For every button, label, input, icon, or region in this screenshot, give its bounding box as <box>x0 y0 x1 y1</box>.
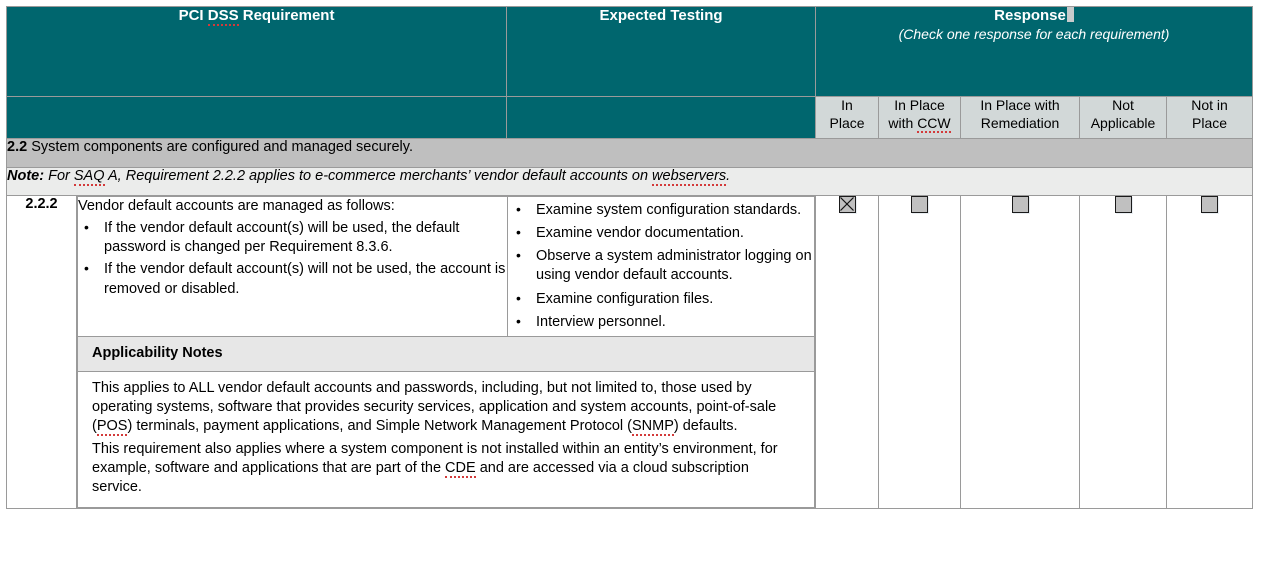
bullet-icon: • <box>516 246 521 264</box>
note-text: For SAQ A, Requirement 2.2.2 applies to … <box>48 168 730 186</box>
requirement-content-grid: Vendor default accounts are managed as f… <box>77 196 815 508</box>
response-cell-in-place-with-ccw[interactable] <box>879 196 961 509</box>
applicability-paragraph: This applies to ALL vendor default accou… <box>92 379 796 437</box>
testing-bullet-item: • Examine vendor documentation. <box>508 224 814 243</box>
expected-testing-cell: • Examine system configuration standards… <box>508 197 815 337</box>
bullet-icon: • <box>516 312 521 330</box>
testing-bullet-item: • Observe a system administrator logging… <box>508 247 814 285</box>
checkbox-empty-icon[interactable] <box>1115 196 1132 213</box>
applicability-paragraph: This requirement also applies where a sy… <box>92 440 796 498</box>
header-pci-dss-requirement: PCI DSS Requirement <box>7 7 507 97</box>
testing-bullet-item: • Examine system configuration standards… <box>508 201 814 220</box>
requirement-bullet-text: If the vendor default account(s) will no… <box>104 261 505 296</box>
table-subheader-row: In Place In Place with CCW In Place with… <box>7 97 1253 139</box>
bullet-icon: • <box>84 259 89 277</box>
response-title: Response <box>994 7 1066 26</box>
subheader-remediation-line2: Remediation <box>961 115 1079 133</box>
applicability-notes-body: This applies to ALL vendor default accou… <box>78 372 814 508</box>
checkbox-empty-icon[interactable] <box>1012 196 1029 213</box>
testing-bullet-text: Examine system configuration standards. <box>536 202 801 218</box>
bullet-icon: • <box>516 289 521 307</box>
requirement-number-cell: 2.2.2 <box>7 196 77 509</box>
requirement-row: 2.2.2 Vendor default accounts are manage… <box>7 196 1253 509</box>
subheader-in-place-line2: Place <box>816 115 878 133</box>
text-cursor-caret <box>1067 7 1074 22</box>
applicability-notes-block: Applicability Notes This applies to ALL … <box>78 336 815 508</box>
requirement-content-cell: Vendor default accounts are managed as f… <box>77 196 816 509</box>
subheader-spacer-requirement <box>7 97 507 139</box>
requirement-text-cell: Vendor default accounts are managed as f… <box>78 197 508 337</box>
subheader-remediation-line1: In Place with <box>961 97 1079 115</box>
applicability-notes-title: Applicability Notes <box>78 337 814 372</box>
testing-bullet-text: Interview personnel. <box>536 314 666 330</box>
requirement-bullet-list: • If the vendor default account(s) will … <box>78 219 507 299</box>
table-header-row: PCI DSS Requirement Expected Testing Res… <box>7 7 1253 97</box>
header-expected-testing: Expected Testing <box>507 7 816 97</box>
subheader-ccw-line1: In Place <box>879 97 960 115</box>
subheader-not-applicable: Not Applicable <box>1080 97 1167 139</box>
response-subtitle: (Check one response for each requirement… <box>816 26 1252 44</box>
subheader-in-place-line1: In <box>816 97 878 115</box>
note-cell: Note: For SAQ A, Requirement 2.2.2 appli… <box>7 168 1253 196</box>
requirement-bullet-item: • If the vendor default account(s) will … <box>78 260 507 298</box>
response-cell-not-applicable[interactable] <box>1080 196 1167 509</box>
subheader-na-line2: Applicable <box>1080 115 1166 133</box>
subheader-nip-line1: Not in <box>1167 97 1252 115</box>
requirement-lead-text: Vendor default accounts are managed as f… <box>78 197 507 216</box>
testing-bullet-item: • Interview personnel. <box>508 313 814 332</box>
testing-bullet-text: Examine configuration files. <box>536 291 713 307</box>
checkbox-checked-x-icon[interactable] <box>839 196 856 213</box>
subheader-spacer-testing <box>507 97 816 139</box>
requirement-bullet-item: • If the vendor default account(s) will … <box>78 219 507 257</box>
section-heading-row: 2.2 System components are configured and… <box>7 139 1253 168</box>
note-label: Note: <box>7 168 44 184</box>
testing-bullet-text: Examine vendor documentation. <box>536 225 744 241</box>
header-response-group: Response (Check one response for each re… <box>816 7 1253 97</box>
subheader-na-line1: Not <box>1080 97 1166 115</box>
section-heading-cell: 2.2 System components are configured and… <box>7 139 1253 168</box>
applicability-notes-row: Applicability Notes This applies to ALL … <box>78 336 815 508</box>
subheader-nip-line2: Place <box>1167 115 1252 133</box>
checkbox-empty-icon[interactable] <box>1201 196 1218 213</box>
subheader-ccw-line2: with CCW <box>879 115 960 133</box>
requirement-bullet-text: If the vendor default account(s) will be… <box>104 220 459 255</box>
bullet-icon: • <box>84 218 89 236</box>
section-number: 2.2 <box>7 139 27 155</box>
response-cell-in-place-with-remediation[interactable] <box>961 196 1080 509</box>
note-row: Note: For SAQ A, Requirement 2.2.2 appli… <box>7 168 1253 196</box>
testing-bullet-text: Observe a system administrator logging o… <box>536 248 812 283</box>
section-text: System components are configured and man… <box>31 139 413 155</box>
subheader-in-place-with-remediation: In Place with Remediation <box>961 97 1080 139</box>
checkbox-empty-icon[interactable] <box>911 196 928 213</box>
requirement-testing-row: Vendor default accounts are managed as f… <box>78 197 815 337</box>
testing-bullet-item: • Examine configuration files. <box>508 290 814 309</box>
saq-requirement-table: PCI DSS Requirement Expected Testing Res… <box>6 6 1253 509</box>
bullet-icon: • <box>516 200 521 218</box>
document-page: PCI DSS Requirement Expected Testing Res… <box>0 0 1264 567</box>
response-cell-not-in-place[interactable] <box>1167 196 1253 509</box>
bullet-icon: • <box>516 223 521 241</box>
subheader-not-in-place: Not in Place <box>1167 97 1253 139</box>
response-cell-in-place[interactable] <box>816 196 879 509</box>
subheader-in-place: In Place <box>816 97 879 139</box>
expected-testing-bullet-list: • Examine system configuration standards… <box>508 201 814 332</box>
subheader-in-place-with-ccw: In Place with CCW <box>879 97 961 139</box>
